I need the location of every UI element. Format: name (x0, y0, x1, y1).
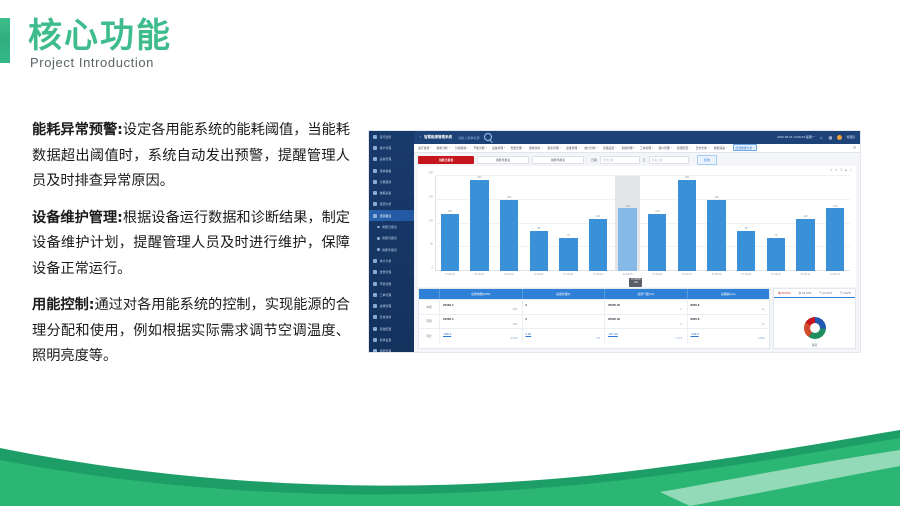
sidebar-item-label: 能耗看板 (380, 169, 392, 173)
x-tick-label: 07-06-07 (672, 273, 702, 282)
sidebar-item-1[interactable]: 用户管理› (369, 142, 414, 153)
menu-more-icon[interactable]: ☰ (853, 146, 856, 150)
chevron-down-icon: ▾ (615, 146, 616, 149)
share-tabs[interactable]: 电 60.97%水 22.07%气 12.37%汽 4.97% (774, 289, 855, 298)
cell-subvalue: m³ (680, 308, 683, 311)
sidebar-item-16[interactable]: 日常巡检 (369, 312, 414, 323)
table-cell-1-2: 25625.30m³ (604, 315, 687, 329)
paragraph-lead: 能耗异常预警: (32, 122, 123, 138)
bar-value-label: 200 (477, 176, 481, 179)
ops-icon (373, 304, 377, 308)
menu-item-label: 工单管理 (640, 146, 651, 150)
menu-item-label: 基础设置 (603, 146, 614, 150)
user-icon (373, 146, 377, 150)
bar[interactable] (589, 219, 607, 271)
x-tick-label: 07-06-10 (761, 273, 791, 282)
y-tick-label: 150 (429, 195, 433, 198)
avatar[interactable] (837, 135, 843, 141)
menu-item-label: 设备管理 (492, 146, 503, 150)
start-date-input[interactable]: 开始日期 (600, 156, 640, 164)
date-range-dash: 至 (643, 158, 646, 162)
menu-item-11[interactable]: 系统管理▾ (622, 146, 635, 150)
bar-value-label: 150 (715, 196, 719, 199)
table-cell-0-2: 25625.30m³ (604, 300, 687, 314)
tab-daily-report[interactable]: 用能日报表 (418, 156, 474, 164)
sidebar-item-label: 计量器具 (380, 180, 392, 184)
sidebar-item-18[interactable]: 系统设置 (369, 334, 414, 345)
device-icon (373, 157, 377, 161)
y-axis: 050100150200 (418, 176, 435, 271)
energy-share-panel: 电 60.97%水 22.07%气 12.37%汽 4.97% 能耗 (773, 288, 856, 349)
bar-column-12[interactable]: 110 (791, 176, 821, 271)
menu-item-2[interactable]: 分项能耗▾ (455, 146, 468, 150)
content-body: 能耗异常预警:设定各用能系统的能耗阈值，当能耗数据超出阈值时，系统自动发出预警，… (32, 118, 350, 370)
bar[interactable] (648, 214, 666, 271)
y-tick-label: 0 (432, 267, 433, 270)
sidebar-item-3[interactable]: 能耗看板› (369, 165, 414, 176)
analysis-icon (373, 202, 377, 206)
dot-icon (377, 248, 380, 251)
sidebar-item-6[interactable]: 能源分析› (369, 199, 414, 210)
summary-table: 总用电量(kWh)总用水量(t)总用气量(m³)总能耗(tce) 本期25263… (418, 288, 770, 349)
sidebar-item-9[interactable]: 用能月报表 (369, 233, 414, 244)
cell-value: 25625.30 (608, 303, 620, 307)
dot-icon (377, 226, 380, 229)
sidebar-item-label: 权限管理 (380, 349, 392, 352)
menu-item-label: 报表管理 (548, 146, 559, 150)
bar-column-6[interactable]: 132 (613, 176, 643, 271)
sidebar-item-label: 统计分析 (380, 259, 392, 263)
dot-icon (377, 237, 380, 240)
menu-item-9[interactable]: 统计分析▾ (585, 146, 598, 150)
sidebar-item-0[interactable]: 运行监测 (369, 131, 414, 142)
chevron-down-icon: ▾ (634, 146, 635, 149)
chevron-right-icon: › (410, 203, 411, 206)
menu-item-5[interactable]: 告警管理▾ (511, 146, 524, 150)
bar-column-7[interactable]: 120 (642, 176, 672, 271)
chevron-down-icon: ▾ (652, 146, 653, 149)
sidebar-item-label: 告警管理 (380, 270, 392, 274)
sidebar-item-12[interactable]: 告警管理› (369, 267, 414, 278)
x-tick-label: 07-06-03 (554, 273, 584, 282)
sidebar-item-8[interactable]: 用能日报表 (369, 221, 414, 232)
table-cell-2-0[interactable]: -265.4-4.52% (439, 329, 522, 343)
bar-column-3[interactable]: 85 (524, 176, 554, 271)
table-cell-0-3: 8825.8tce (687, 300, 770, 314)
diagnose-icon (373, 282, 377, 286)
refresh-icon[interactable]: ↺ (835, 168, 838, 172)
bar-series: 12020015085701101321202001508570110132 (435, 176, 850, 271)
chevron-down-icon: ▾ (753, 146, 754, 149)
bar-column-10[interactable]: 85 (731, 176, 761, 271)
cell-subvalue: tce (762, 308, 765, 311)
x-tick-label: 07-06-01 (494, 273, 524, 282)
x-tick-label: 07-06-09 (731, 273, 761, 282)
menu-item-12[interactable]: 工单管理▾ (640, 146, 653, 150)
menu-item-label: 数据采集 (714, 146, 725, 150)
page-title: 核心功能 (28, 15, 172, 57)
chevron-down-icon: ▾ (486, 146, 487, 149)
sidebar-item-label: 节能诊断 (380, 282, 392, 286)
bar-value-label: 70 (567, 234, 570, 237)
bar-chart-card: ✎ ↺ ☰ ■ ⇩ 050100150200 12020015085701101… (418, 166, 856, 287)
table-cell-1-3: 8825.8tce (687, 315, 770, 329)
cell-value: 25625.30 (608, 317, 620, 321)
chevron-down-icon: ▾ (560, 146, 561, 149)
bar[interactable] (737, 231, 755, 271)
sidebar-item-15[interactable]: 运维管理 (369, 300, 414, 311)
cell-value: 0 (526, 317, 528, 321)
share-tab-3[interactable]: 汽 4.97% (840, 291, 851, 295)
sidebar-item-7[interactable]: 能源报表 (369, 210, 414, 221)
config-icon (373, 327, 377, 331)
x-tick-label: 07-06-08 (702, 273, 732, 282)
donut-chart (804, 317, 826, 339)
menu-item-13[interactable]: 用户管理▾ (659, 146, 672, 150)
setting-icon (373, 338, 377, 342)
table-cell-2-2[interactable]: -377.26-1.47% (604, 329, 687, 343)
sidebar-item-2[interactable]: 设备管理 (369, 154, 414, 165)
bar-column-4[interactable]: 70 (554, 176, 584, 271)
username-label: 管理员 (846, 135, 855, 139)
sidebar-item-label: 日常巡检 (380, 315, 392, 319)
share-tab-1[interactable]: 水 22.07% (799, 291, 812, 295)
download-icon[interactable]: ⇩ (849, 168, 852, 172)
table-header-cell-2: 总用水量(t) (522, 289, 605, 299)
table-header-cell-3: 总用气量(m³) (604, 289, 687, 299)
sidebar-item-label: 用能日报表 (382, 225, 397, 229)
table-header-row: 总用电量(kWh)总用水量(t)总用气量(m³)总能耗(tce) (419, 289, 769, 299)
menu-item-8[interactable]: 运维管理▾ (566, 146, 579, 150)
bar-value-label: 150 (507, 196, 511, 199)
menu-item-1[interactable]: 用能分析▾ (437, 146, 450, 150)
x-tick-label: 07-06-06 (642, 273, 672, 282)
menu-item-selected[interactable]: 能源数据分析▾ (733, 144, 758, 152)
cell-value: -265.4 (443, 332, 451, 336)
bar[interactable] (618, 208, 636, 271)
bar[interactable] (707, 200, 725, 271)
chevron-down-icon: ▾ (467, 146, 468, 149)
cell-value: 8825.8 (691, 303, 700, 307)
menu-item-label: 运行监测 (418, 146, 429, 150)
paragraph-3: 用能控制:通过对各用能系统的控制，实现能源的合理分配和使用，例如根据实际需求调节… (32, 293, 350, 370)
table-header-cell-1: 总用电量(kWh) (439, 289, 522, 299)
sidebar-item-13[interactable]: 节能诊断› (369, 278, 414, 289)
chevron-right-icon: › (410, 271, 411, 274)
sidebar-item-label: 设备管理 (380, 157, 392, 161)
sidebar-item-label: 用能年报表 (382, 248, 397, 252)
sidebar-item-label: 能源报表 (380, 214, 392, 218)
cell-subvalue: 0% (597, 337, 600, 340)
dashboard-sidebar[interactable]: 运行监测用户管理›设备管理能耗看板›计量器具数据采集›能源分析›能源报表用能日报… (369, 131, 414, 352)
bar-column-1[interactable]: 200 (465, 176, 495, 271)
chevron-down-icon: ▾ (578, 146, 579, 149)
table-cell-0-0: 25263.4kWh (439, 300, 522, 314)
data-view-icon[interactable]: ☰ (840, 168, 843, 172)
filter-toolbar[interactable]: 用能日报表 用能月报表 用能年报表 日期 开始日期 至 结束日期 查询 (418, 155, 856, 166)
menu-item-label: 权限配置 (677, 146, 688, 150)
cell-value: 0 (526, 303, 528, 307)
sidebar-item-4[interactable]: 计量器具 (369, 176, 414, 187)
sidebar-item-14[interactable]: 工单管理 (369, 289, 414, 300)
paragraph-lead: 设备维护管理: (32, 210, 123, 226)
end-date-input[interactable]: 结束日期 (649, 156, 689, 164)
cell-subvalue: -5.08% (757, 337, 765, 340)
sidebar-item-10[interactable]: 用能年报表 (369, 244, 414, 255)
row-label: 同比 (419, 329, 439, 343)
donut-caption: 能耗 (774, 343, 855, 347)
bar-value-label: 70 (774, 234, 777, 237)
menu-item-label: 统计分析 (585, 146, 596, 150)
bar[interactable] (559, 238, 577, 271)
cell-value: -377.26 (608, 332, 618, 336)
topbar-right-group: 2023-08-04 13:06:03 星期一 ☼ ▦ 管理员 (777, 135, 860, 141)
menu-item-7[interactable]: 报表管理▾ (548, 146, 561, 150)
bar-column-11[interactable]: 70 (761, 176, 791, 271)
bar[interactable] (530, 231, 548, 271)
tab-yearly-report[interactable]: 用能年报表 (532, 156, 584, 164)
bar-value-label: 200 (685, 176, 689, 179)
chevron-right-icon: › (410, 282, 411, 285)
menu-item-4[interactable]: 设备管理▾ (492, 146, 505, 150)
bar-column-2[interactable]: 150 (494, 176, 524, 271)
sidebar-item-19[interactable]: 权限管理 (369, 346, 414, 352)
menu-item-10[interactable]: 基础设置▾ (603, 146, 616, 150)
alarm-icon (373, 270, 377, 274)
y-tick-label: 200 (429, 172, 433, 175)
datetime-label: 2023-08-04 13:06:03 星期一 (777, 135, 815, 139)
bar-value-label: 85 (745, 227, 748, 230)
report-icon (373, 214, 377, 218)
cell-subvalue: kWh (513, 323, 518, 326)
sidebar-item-5[interactable]: 数据采集› (369, 187, 414, 198)
dashboard-screenshot: 运行监测用户管理›设备管理能耗看板›计量器具数据采集›能源分析›能源报表用能日报… (369, 131, 860, 352)
sidebar-item-label: 工单管理 (380, 293, 392, 297)
bar-value-label: 132 (626, 205, 630, 208)
x-tick-label: 07-05-31 (465, 273, 495, 282)
meter-icon (373, 180, 377, 184)
bar[interactable] (767, 238, 785, 271)
menu-item-label: 分项能耗 (455, 146, 466, 150)
sidebar-item-label: 运行监测 (380, 135, 392, 139)
menu-item-label: 用户管理 (659, 146, 670, 150)
menu-item-15[interactable]: 日志查询▾ (696, 146, 709, 150)
bar[interactable] (441, 214, 459, 271)
menu-item-6[interactable]: 能效对标▾ (529, 146, 542, 150)
chevron-down-icon: ▾ (671, 146, 672, 149)
x-axis-labels: 07-05-3007-05-3107-06-0107-06-0207-06-03… (435, 273, 850, 282)
back-icon[interactable]: ‹ (420, 135, 421, 139)
chevron-down-icon: ▾ (597, 146, 598, 149)
table-cell-0-1: 0 (522, 300, 605, 314)
menu-item-16[interactable]: 数据采集▾ (714, 146, 727, 150)
bar-value-label: 120 (655, 210, 659, 213)
grid-icon[interactable]: ▦ (828, 135, 833, 140)
menu-item-label: 日志查询 (696, 146, 707, 150)
tooltip-value: 132 (631, 282, 640, 285)
sidebar-item-label: 基础配置 (380, 327, 392, 331)
date-label: 日期 (591, 158, 597, 162)
save-icon[interactable]: ✎ (830, 168, 833, 172)
cell-subvalue: kWh (513, 308, 518, 311)
chevron-right-icon: › (410, 192, 411, 195)
cell-value: 0.00 (526, 332, 532, 336)
row-label: 同期 (419, 315, 439, 329)
paragraph-1: 能耗异常预警:设定各用能系统的能耗阈值，当能耗数据超出阈值时，系统自动发出预警，… (32, 118, 350, 195)
menu-item-label: 能效对标 (529, 146, 540, 150)
row-label: 本期 (419, 300, 439, 314)
bar-column-8[interactable]: 200 (672, 176, 702, 271)
board-icon (373, 169, 377, 173)
bar-value-label: 110 (804, 215, 808, 218)
menu-item-label: 节能诊断 (474, 146, 485, 150)
share-tab-2[interactable]: 气 12.37% (819, 291, 832, 295)
paragraph-2: 设备维护管理:根据设备运行数据和诊断结果，制定设备维护计划，提醒管理人员及时进行… (32, 206, 350, 283)
cell-subvalue: -1.47% (675, 337, 683, 340)
sidebar-item-label: 用能月报表 (382, 236, 397, 240)
table-row: 本期25263.4kWh025625.30m³8825.8tce (419, 299, 769, 314)
sidebar-item-label: 能源分析 (380, 202, 392, 206)
cell-value: -444.8 (691, 332, 699, 336)
app-title: 智慧能源管理系统 (424, 135, 452, 140)
bar-column-0[interactable]: 120 (435, 176, 465, 271)
table-header-cell-4: 总能耗(tce) (687, 289, 770, 299)
x-tick-label: 07-05-30 (435, 273, 465, 282)
cell-value: 25263.4 (443, 303, 453, 307)
sidebar-item-label: 用户管理 (380, 146, 392, 150)
cell-value: 8825.8 (691, 317, 700, 321)
cell-subvalue: m³ (680, 323, 683, 326)
y-tick-label: 50 (430, 243, 433, 246)
chart-tooltip: 07-06-05132 (629, 278, 642, 287)
chevron-right-icon: › (410, 259, 411, 262)
table-row: 同比-265.4-4.52%0.000%-377.26-1.47%-444.8-… (419, 328, 769, 343)
bar[interactable] (500, 200, 518, 271)
cell-subvalue: tce (762, 323, 765, 326)
order-icon (373, 293, 377, 297)
chevron-down-icon: ▾ (504, 146, 505, 149)
monitor-icon (373, 135, 377, 139)
sidebar-item-11[interactable]: 统计分析› (369, 255, 414, 266)
chevron-down-icon: ▾ (689, 146, 690, 149)
menu-item-label: 能源数据分析 (736, 146, 753, 150)
patrol-icon (373, 315, 377, 319)
cell-subvalue: -4.52% (510, 337, 518, 340)
chart-toolbox[interactable]: ✎ ↺ ☰ ■ ⇩ (830, 168, 852, 172)
footer-wave (0, 426, 900, 506)
bar-value-label: 120 (448, 210, 452, 213)
search-button[interactable]: 查询 (697, 155, 717, 165)
x-tick-label: 07-06-11 (791, 273, 821, 282)
menu-item-0[interactable]: 运行监测▾ (418, 146, 431, 150)
sidebar-item-label: 运维管理 (380, 304, 392, 308)
table-cell-2-3[interactable]: -444.8-5.08% (687, 329, 770, 343)
chevron-down-icon: ▾ (449, 146, 450, 149)
plot-area: 12020015085701101321202001508570110132 (435, 176, 850, 271)
table-cell-1-1: 0 (522, 315, 605, 329)
x-tick-label: 07-06-04 (583, 273, 613, 282)
menu-item-label: 告警管理 (511, 146, 522, 150)
page-subtitle: Project Introduction (30, 55, 154, 70)
bell-icon[interactable]: ☼ (819, 135, 824, 140)
bar[interactable] (796, 219, 814, 271)
cell-value: 25263.4 (443, 317, 453, 321)
bar-column-5[interactable]: 110 (583, 176, 613, 271)
table-body: 本期25263.4kWh025625.30m³8825.8tce同期25263.… (419, 299, 769, 343)
table-cell-1-0: 25263.4kWh (439, 315, 522, 329)
sidebar-item-17[interactable]: 基础配置 (369, 323, 414, 334)
chevron-down-icon: ▾ (523, 146, 524, 149)
bar-switch-icon[interactable]: ■ (845, 168, 847, 172)
bar-value-label: 110 (596, 215, 600, 218)
sidebar-item-label: 系统设置 (380, 338, 392, 342)
bar[interactable] (470, 180, 488, 271)
table-cell-2-1[interactable]: 0.000% (522, 329, 605, 343)
tab-monthly-report[interactable]: 用能月报表 (477, 156, 529, 164)
table-row: 同期25263.4kWh025625.30m³8825.8tce (419, 314, 769, 329)
x-tick-label: 07-06-02 (524, 273, 554, 282)
table-corner-cell (419, 289, 439, 299)
dashboard-menubar[interactable]: 运行监测▾用能分析▾分项能耗▾节能诊断▾设备管理▾告警管理▾能效对标▾报表管理▾… (414, 144, 860, 153)
bar[interactable] (678, 180, 696, 271)
chevron-down-icon: ▾ (541, 146, 542, 149)
bar-value-label: 132 (833, 205, 837, 208)
search-icon[interactable] (484, 133, 492, 141)
paragraph-lead: 用能控制: (32, 297, 94, 313)
x-tick-label: 07-06-12 (820, 273, 850, 282)
collect-icon (373, 191, 377, 195)
menu-item-14[interactable]: 权限配置▾ (677, 146, 690, 150)
stat-icon (373, 259, 377, 263)
menu-item-3[interactable]: 节能诊断▾ (474, 146, 487, 150)
menu-item-label: 运维管理 (566, 146, 577, 150)
menu-item-label: 系统管理 (622, 146, 633, 150)
bar-value-label: 85 (537, 227, 540, 230)
dashboard-topbar: ‹ 智慧能源管理系统 请输入菜单名称 2023-08-04 13:06:03 星… (414, 131, 860, 144)
title-accent-bar (0, 18, 10, 63)
menu-search-input[interactable]: 请输入菜单名称 (458, 135, 480, 140)
y-tick-label: 100 (429, 219, 433, 222)
share-tab-0[interactable]: 电 60.97% (778, 291, 791, 295)
chevron-down-icon: ▾ (708, 146, 709, 149)
bar-column-13[interactable]: 132 (820, 176, 850, 271)
bar[interactable] (826, 208, 844, 271)
sidebar-item-label: 数据采集 (380, 191, 392, 195)
bar-column-9[interactable]: 150 (702, 176, 732, 271)
chevron-right-icon: › (410, 146, 411, 149)
chevron-down-icon: ▾ (726, 146, 727, 149)
auth-icon (373, 349, 377, 352)
chevron-right-icon: › (410, 169, 411, 172)
menu-item-label: 用能分析 (437, 146, 448, 150)
chevron-down-icon: ▾ (430, 146, 431, 149)
